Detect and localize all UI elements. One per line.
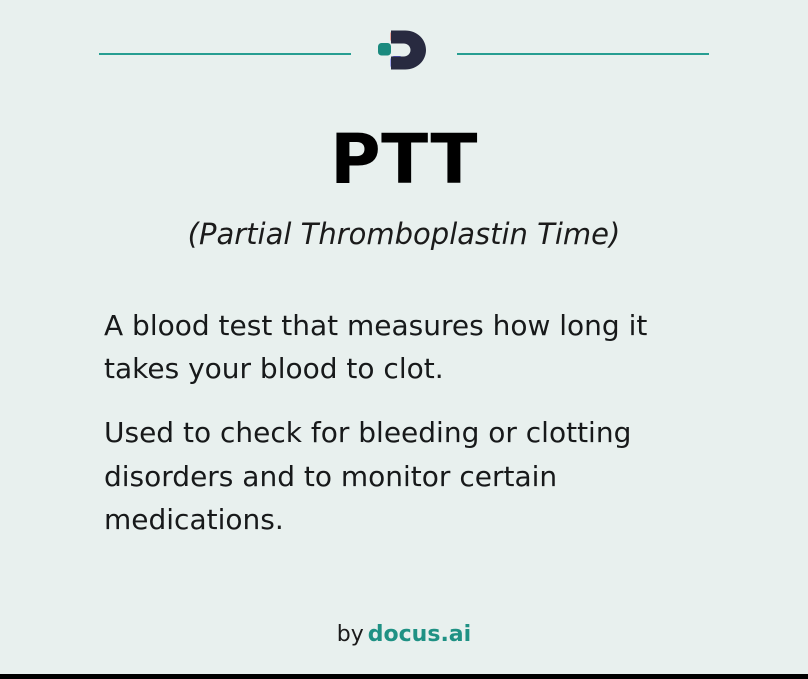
info-card: PTT (Partial Thromboplastin Time) A bloo… xyxy=(0,0,808,679)
footer-brand-link[interactable]: docus.ai xyxy=(368,622,471,647)
body-content: A blood test that measures how long it t… xyxy=(0,304,808,542)
card-header xyxy=(0,0,808,108)
page-subtitle: (Partial Thromboplastin Time) xyxy=(0,217,808,252)
body-paragraph: Used to check for bleeding or clotting d… xyxy=(104,411,704,542)
footer-prefix: by xyxy=(337,622,364,647)
docus-logo-icon xyxy=(375,30,433,78)
divider-right xyxy=(457,53,709,55)
page-title: PTT xyxy=(0,126,808,195)
body-paragraph: A blood test that measures how long it t… xyxy=(104,304,704,391)
title-block: PTT (Partial Thromboplastin Time) xyxy=(0,126,808,252)
card-footer: bydocus.ai xyxy=(0,622,808,647)
bottom-bar xyxy=(0,674,808,679)
divider-left xyxy=(99,53,351,55)
